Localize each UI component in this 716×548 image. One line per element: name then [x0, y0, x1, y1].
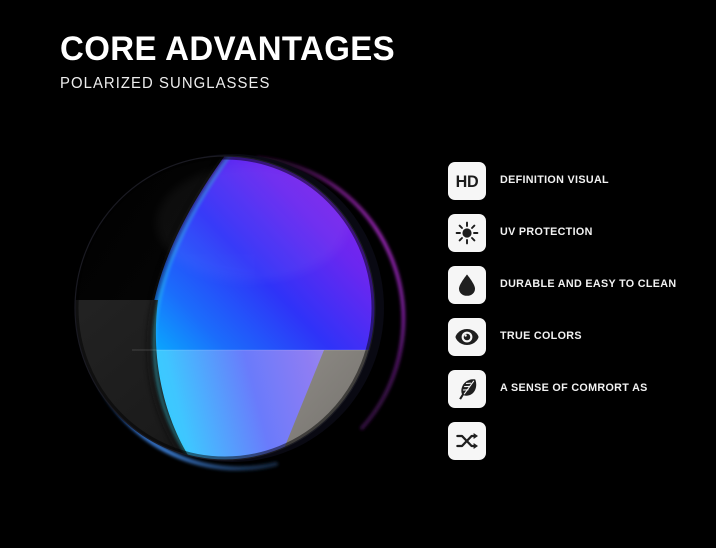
feature-row[interactable]: UV PROTECTION — [448, 214, 698, 266]
poster-canvas: CORE ADVANTAGES POLARIZED SUNGLASSES — [0, 0, 716, 548]
eye-icon-glyph — [454, 327, 480, 347]
feature-label: DURABLE AND EASY TO CLEAN — [500, 278, 676, 290]
page-subtitle: POLARIZED SUNGLASSES — [60, 75, 444, 93]
shuffle-icon — [448, 422, 486, 460]
shuffle-icon-glyph — [455, 431, 479, 451]
eye-icon — [448, 318, 486, 356]
feature-label: DEFINITION VISUAL — [500, 174, 609, 186]
feature-row[interactable]: HD DEFINITION VISUAL — [448, 162, 698, 214]
water-drop-icon — [448, 266, 486, 304]
feather-icon — [448, 370, 486, 408]
feature-label: UV PROTECTION — [500, 226, 593, 238]
feature-list: HD DEFINITION VISUAL — [448, 162, 698, 474]
water-drop-icon-glyph — [456, 273, 478, 297]
sun-icon — [448, 214, 486, 252]
feature-row[interactable]: DURABLE AND EASY TO CLEAN — [448, 266, 698, 318]
sun-icon-glyph — [455, 221, 479, 245]
feather-icon-glyph — [455, 377, 479, 401]
feature-label: TRUE COLORS — [500, 330, 582, 342]
feature-label: A SENSE OF COMRORT AS — [500, 382, 648, 394]
feature-row[interactable]: TRUE COLORS — [448, 318, 698, 370]
page-title: CORE ADVANTAGES — [60, 32, 448, 68]
hd-icon: HD — [448, 162, 486, 200]
heading-block: CORE ADVANTAGES POLARIZED SUNGLASSES — [60, 32, 460, 93]
hd-icon-label: HD — [456, 173, 479, 190]
feature-row[interactable]: A SENSE OF COMRORT AS — [448, 370, 698, 422]
lens-illustration — [62, 128, 414, 488]
feature-row[interactable] — [448, 422, 698, 474]
lens-graphic — [62, 128, 414, 488]
lens-disc — [62, 128, 392, 488]
